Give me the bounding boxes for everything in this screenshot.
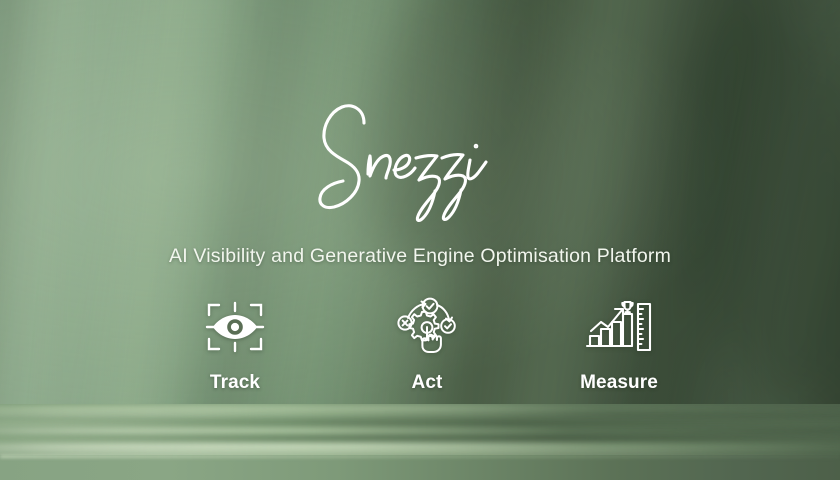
- brand-wordmark: Snezzi: [0, 86, 840, 226]
- pillar-label-measure: Measure: [580, 372, 658, 394]
- brand-tagline: AI Visibility and Generative Engine Opti…: [0, 245, 840, 268]
- pillar-label-track: Track: [210, 372, 260, 394]
- bar-chart-trophy-ruler-icon: [585, 296, 653, 358]
- gear-hand-cycle-icon: [396, 296, 458, 358]
- pillar-measure: Measure: [564, 296, 674, 394]
- pillars-row: Track: [0, 296, 840, 394]
- promo-banner: Snezzi AI Visibility and Generative Engi…: [0, 0, 840, 480]
- pillar-label-act: Act: [412, 372, 443, 394]
- pillar-act: Act: [372, 296, 482, 394]
- eye-viewfinder-icon: [204, 296, 266, 358]
- pillar-track: Track: [180, 296, 290, 394]
